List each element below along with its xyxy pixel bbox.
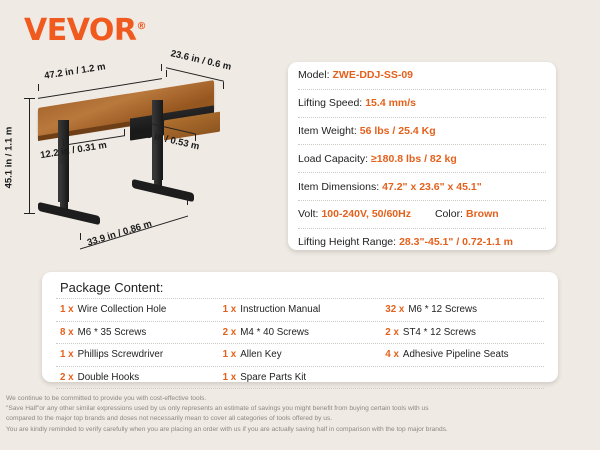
item-quantity: 32 x [385,304,404,315]
dimension-height-left: 45.1 in / 1.1 m [3,127,14,189]
package-content-card: Package Content: 1 x Wire Collection Hol… [42,272,558,382]
desk-foot-right [132,179,194,202]
spec-label: Volt: [298,208,318,220]
desk-leg-right-lower [154,144,162,190]
spec-row-item-dimensions: Item Dimensions: 47.2" x 23.6" x 45.1" [298,173,546,201]
item-name: ST4 * 12 Screws [403,327,476,338]
disclaimer-line-1: We continue to be committed to provide y… [6,394,594,404]
disclaimer-line-2: "Save Half"or any other similar expressi… [6,404,594,414]
vevor-logo: VEVOR® [24,16,146,46]
item-quantity: 4 x [385,349,399,360]
dimension-cap [24,98,35,99]
spec-value: 100-240V, 50/60Hz [321,208,411,220]
item-name: M6 * 35 Screws [78,327,147,338]
brand-name: VEVOR [24,13,137,48]
item-quantity: 1 x [223,372,237,383]
spec-label: Lifting Height Range: [298,236,396,248]
spec-value: ZWE-DDJ-SS-09 [333,69,414,81]
spec-row-load-capacity: Load Capacity: ≥180.8 lbs / 82 kg [298,145,546,173]
item-name: Phillips Screwdriver [78,349,163,360]
spec-row-lifting-speed: Lifting Speed: 15.4 mm/s [298,90,546,118]
item-name: Allen Key [240,349,281,360]
spec-label-color: Color: [435,208,463,220]
item-name: Spare Parts Kit [240,372,306,383]
spec-label: Item Dimensions: [298,181,379,193]
spec-label: Lifting Speed: [298,97,362,109]
table-row: 2 x Double Hooks 1 x Spare Parts Kit [56,366,544,390]
package-item: 32 x M6 * 12 Screws [381,304,544,315]
item-quantity: 1 x [60,304,74,315]
dimension-depth-top: 23.6 in / 0.6 m [170,48,233,73]
spec-row-item-weight: Item Weight: 56 lbs / 25.4 Kg [298,118,546,146]
spec-value: 28.3"-45.1" / 0.72-1.1 m [399,236,513,248]
spec-value: ≥180.8 lbs / 82 kg [371,153,457,165]
item-quantity: 1 x [223,304,237,315]
table-row: 1 x Wire Collection Hole 1 x Instruction… [56,298,544,321]
package-item: 1 x Instruction Manual [219,304,382,315]
spec-value-color: Brown [466,208,499,220]
package-item: 2 x M4 * 40 Screws [219,327,382,338]
dimension-line-height [29,98,30,213]
package-item: 4 x Adhesive Pipeline Seats [381,349,544,360]
dimension-cap [24,213,35,214]
dimension-tick [124,129,125,136]
item-quantity: 2 x [223,327,237,338]
dimension-tick [223,82,224,89]
dimension-tick [80,233,81,240]
spec-value: 56 lbs / 25.4 Kg [360,125,436,137]
spec-row-volt-color: Volt: 100-240V, 50/60Hz Color: Brown [298,201,546,229]
item-quantity: 2 x [385,327,399,338]
desk-foot-left [38,202,100,225]
spec-label: Load Capacity: [298,153,368,165]
specifications-card: Model: ZWE-DDJ-SS-09 Lifting Speed: 15.4… [288,62,556,250]
spec-value: 47.2" x 23.6" x 45.1" [382,181,482,193]
item-name: M4 * 40 Screws [240,327,309,338]
item-quantity: 1 x [60,349,74,360]
dimension-tick [38,84,39,91]
package-content-title: Package Content: [56,276,544,298]
item-quantity: 1 x [223,349,237,360]
package-item: 2 x ST4 * 12 Screws [381,327,544,338]
dimension-tick [166,70,167,77]
package-item: 1 x Allen Key [219,349,382,360]
item-name: M6 * 12 Screws [408,304,477,315]
table-row: 1 x Phillips Screwdriver 1 x Allen Key 4… [56,343,544,366]
dimension-width-top: 47.2 in / 1.2 m [44,61,107,82]
spec-value: 15.4 mm/s [365,97,416,109]
dimension-tick [187,198,188,205]
item-quantity: 8 x [60,327,74,338]
package-item: 8 x M6 * 35 Screws [56,327,219,338]
desk-leg-left-lower [60,164,68,212]
disclaimer-line-3: compared to the major top brands and dos… [6,414,594,424]
item-name: Adhesive Pipeline Seats [403,349,509,360]
dimension-tick [161,64,162,71]
product-diagram: 47.2 in / 1.2 m 23.6 in / 0.6 m 45.1 in … [0,52,290,262]
spec-row-model: Model: ZWE-DDJ-SS-09 [298,62,546,90]
spec-row-lifting-height-range: Lifting Height Range: 28.3"-45.1" / 0.72… [298,229,546,256]
dimension-tick [63,139,64,146]
registered-trademark-icon: ® [137,21,147,32]
package-item: 1 x Wire Collection Hole [56,304,219,315]
item-name: Wire Collection Hole [78,304,167,315]
item-name: Double Hooks [78,372,140,383]
table-row: 8 x M6 * 35 Screws 2 x M4 * 40 Screws 2 … [56,321,544,344]
spec-label: Model: [298,69,330,81]
item-quantity: 2 x [60,372,74,383]
spec-label: Item Weight: [298,125,357,137]
package-item: 1 x Spare Parts Kit [219,372,382,383]
package-item: 2 x Double Hooks [56,372,219,383]
footer-disclaimer: We continue to be committed to provide y… [6,394,594,435]
disclaimer-line-4: You are kindly reminded to verify carefu… [6,425,594,435]
item-name: Instruction Manual [240,304,320,315]
package-item: 1 x Phillips Screwdriver [56,349,219,360]
dimension-tick [130,122,131,129]
